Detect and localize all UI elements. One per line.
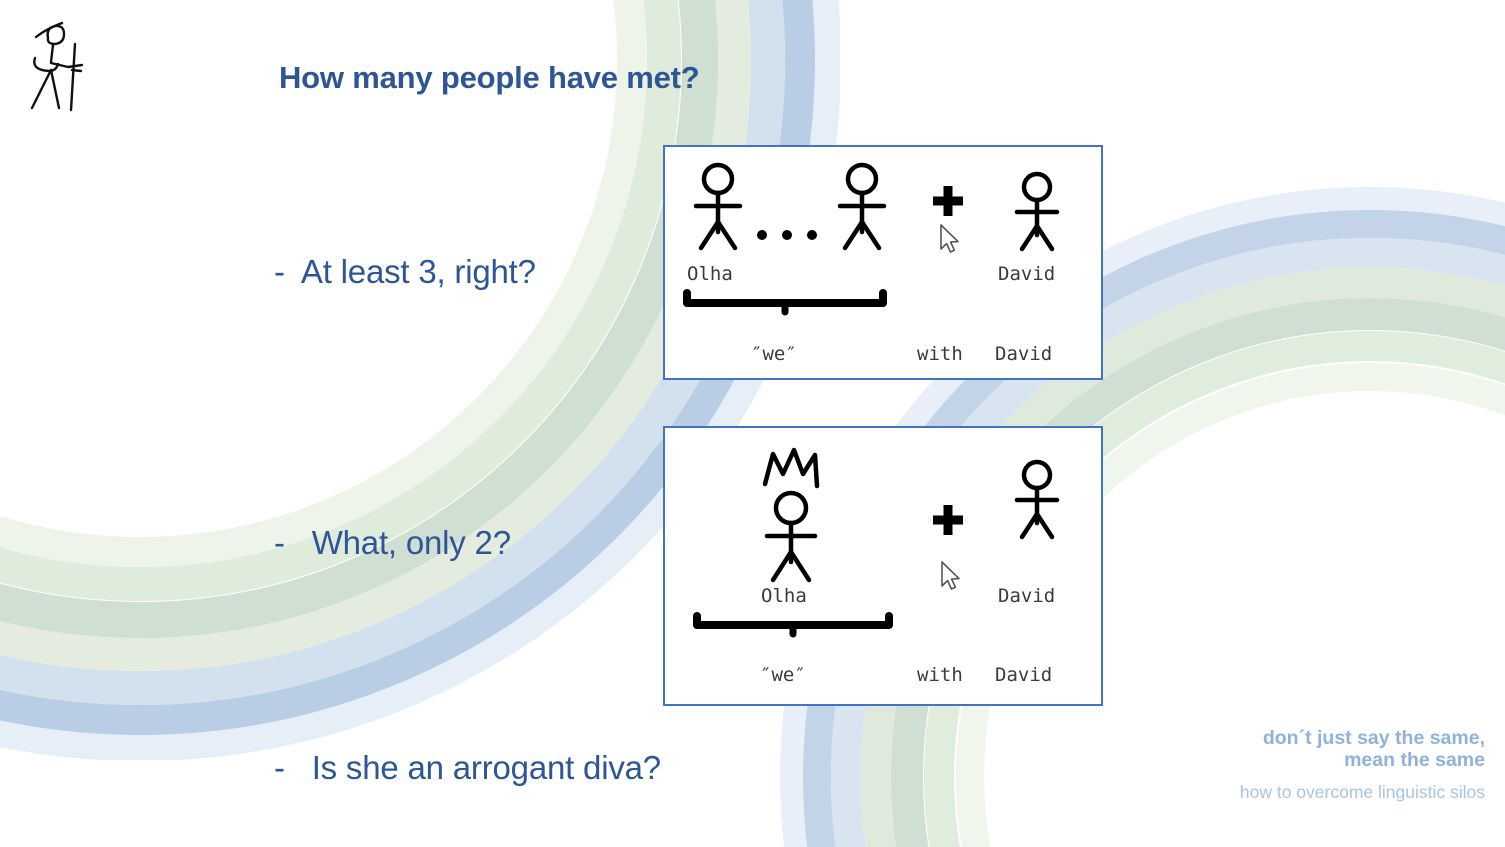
stick-figure-other-person — [840, 165, 884, 248]
stick-figure-david — [1017, 462, 1057, 537]
brace-label-we: ″we″ — [751, 343, 797, 365]
arrow-cursor — [942, 562, 959, 589]
we-brace — [697, 616, 889, 634]
ellipsis-dots — [757, 230, 817, 240]
caption-david: David — [995, 664, 1052, 686]
page-title: How many people have met? — [279, 60, 700, 96]
arrow-cursor — [941, 225, 958, 252]
figure-label-david: David — [998, 585, 1055, 607]
brace-label-we: ″we″ — [760, 664, 806, 686]
diagram-illustration-1: Olha David ″we″ with David — [665, 147, 1101, 378]
diagram-box-at-least-three: Olha David ″we″ with David — [663, 145, 1103, 380]
bullet-item-2: - What, only 2? — [274, 524, 511, 562]
we-brace — [687, 293, 883, 312]
tagline-line-1: don´t just say the same, — [1240, 728, 1485, 750]
figure-label-olha: Olha — [761, 585, 807, 607]
figure-label-david: David — [998, 263, 1055, 285]
caption-david: David — [995, 343, 1052, 365]
diagram-box-only-two: Olha David ″we″ with David — [663, 426, 1103, 706]
figure-label-olha: Olha — [687, 263, 733, 285]
bullet-item-1: - At least 3, right? — [274, 253, 536, 291]
stick-figure-olha-crowned — [767, 493, 815, 580]
stick-figure-olha — [696, 165, 740, 248]
plus-icon — [933, 186, 963, 216]
crown-icon — [765, 450, 817, 486]
hand-drawn-stick-figure-logo — [22, 18, 114, 126]
tagline-subtitle: how to overcome linguistic silos — [1240, 783, 1485, 803]
slide-canvas: How many people have met? - At least 3, … — [0, 0, 1505, 847]
stick-figure-david — [1017, 174, 1057, 249]
caption-with: with — [917, 343, 963, 365]
caption-with: with — [917, 664, 963, 686]
tagline-line-2: mean the same — [1240, 750, 1485, 772]
diagram-illustration-2: Olha David ″we″ with David — [665, 428, 1101, 704]
bullet-item-3: - Is she an arrogant diva? — [274, 749, 661, 787]
branding-tagline: don´t just say the same, mean the same h… — [1240, 728, 1485, 803]
plus-icon — [933, 505, 963, 535]
